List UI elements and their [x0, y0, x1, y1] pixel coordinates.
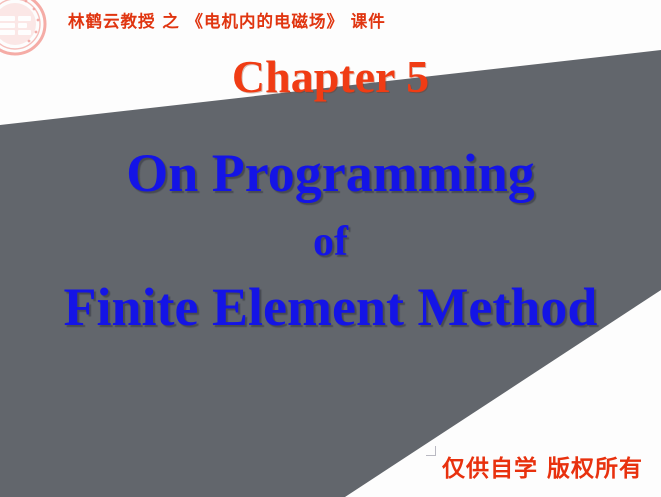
title-line-3: Finite Element Method: [0, 280, 661, 335]
course-header-text: 林鹤云教授 之 《电机内的电磁场》 课件: [68, 8, 386, 32]
university-seal-logo: [0, 0, 47, 56]
title-line-2: of: [0, 221, 661, 264]
chapter-label: Chapter 5: [0, 50, 661, 103]
slide-title-block: On Programming of Finite Element Method: [0, 146, 661, 335]
presentation-slide: 林鹤云教授 之 《电机内的电磁场》 课件 Chapter 5 On Progra…: [0, 0, 661, 497]
copyright-notice: 仅供自学 版权所有: [442, 449, 643, 483]
title-line-1: On Programming: [0, 146, 661, 201]
placeholder-corner-marker: [426, 446, 436, 456]
